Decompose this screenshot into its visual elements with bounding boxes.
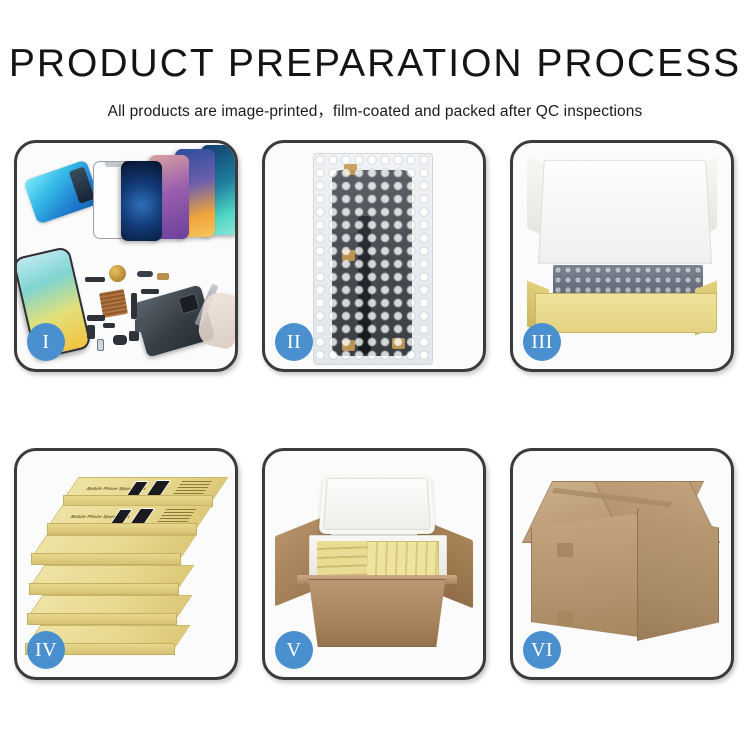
phone-blue-icon <box>121 161 162 241</box>
box-front-face <box>27 613 177 625</box>
flex-cable-icon <box>141 289 159 294</box>
box-front-face <box>47 523 197 535</box>
step-2-image: II <box>265 143 483 369</box>
step-badge-1: I <box>27 323 65 361</box>
flex-cable-icon <box>358 216 371 354</box>
process-grid: I II <box>14 140 740 680</box>
bubble-wrap-bag-icon <box>313 153 433 365</box>
foam-lid-icon <box>319 474 436 533</box>
chip-icon <box>99 289 128 318</box>
tape-icon <box>344 164 357 175</box>
step-3-image: III <box>513 143 731 369</box>
process-step-5[interactable]: V <box>262 448 486 680</box>
retail-box: Mobile Phone Spare Parts <box>71 477 221 503</box>
part-icon <box>137 271 153 277</box>
page-subtitle: All products are image-printed，film-coat… <box>0 83 750 121</box>
carton-front-face <box>531 513 639 637</box>
wrapped-part-icon <box>332 170 412 356</box>
copper-component-icon <box>109 265 126 282</box>
tape-icon <box>342 340 355 351</box>
tape-icon <box>392 338 405 349</box>
process-step-6[interactable]: VI <box>510 448 734 680</box>
step-6-image: VI <box>513 451 731 677</box>
carton-front-wall <box>301 579 453 647</box>
step-badge-6: VI <box>523 631 561 669</box>
process-step-3[interactable]: III <box>510 140 734 372</box>
step-5-image: V <box>265 451 483 677</box>
part-icon <box>135 319 144 332</box>
process-step-2[interactable]: II <box>262 140 486 372</box>
poster-root: PRODUCT PREPARATION PROCESS All products… <box>0 0 750 750</box>
retail-box: Mobile Phone Spare Parts <box>55 505 205 531</box>
part-icon <box>97 339 104 351</box>
header: PRODUCT PREPARATION PROCESS All products… <box>0 0 750 121</box>
step-badge-5: V <box>275 631 313 669</box>
step-badge-2: II <box>275 323 313 361</box>
step-4-image: Mobile Phone Spare Parts Mobile Phone Sp… <box>17 451 235 677</box>
box-front-face <box>29 583 179 595</box>
part-icon <box>87 325 95 339</box>
step-badge-4: IV <box>27 631 65 669</box>
tape-icon <box>342 250 355 261</box>
process-step-4[interactable]: Mobile Phone Spare Parts Mobile Phone Sp… <box>14 448 238 680</box>
retail-box <box>39 535 189 561</box>
part-icon <box>85 277 105 282</box>
carton-tab <box>557 543 573 557</box>
part-icon <box>103 323 115 328</box>
retail-box <box>37 565 187 591</box>
foam-sheet-icon <box>538 160 712 264</box>
part-icon <box>87 315 105 321</box>
carton-side-face <box>637 509 719 641</box>
step-badge-3: III <box>523 323 561 361</box>
retail-box <box>35 595 185 621</box>
page-title: PRODUCT PREPARATION PROCESS <box>0 0 750 83</box>
part-icon <box>129 331 139 341</box>
part-icon <box>113 335 127 345</box>
step-1-image: I <box>17 143 235 369</box>
process-step-1[interactable]: I <box>14 140 238 372</box>
yellow-boxes-icon <box>317 541 367 577</box>
carton-tab <box>557 611 573 625</box>
part-icon <box>157 273 169 280</box>
box-front-face <box>31 553 181 565</box>
inner-box-front <box>535 293 717 333</box>
flexible-display-icon <box>23 160 100 225</box>
flex-cable-icon <box>131 293 137 319</box>
